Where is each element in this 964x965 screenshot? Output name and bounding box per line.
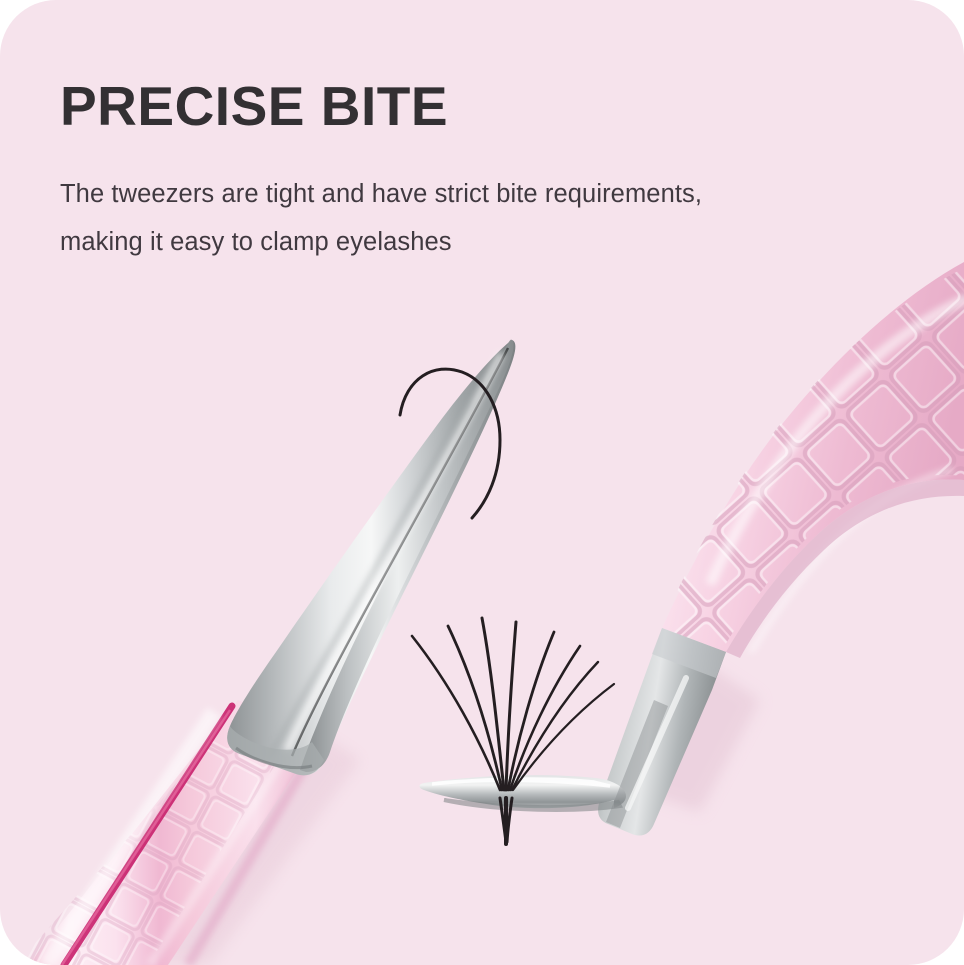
subtitle: The tweezers are tight and have strict b…: [60, 170, 840, 266]
subtitle-line-1: The tweezers are tight and have strict b…: [60, 170, 840, 218]
product-feature-card: PRECISE BITE The tweezers are tight and …: [0, 0, 964, 965]
left-tweezer: [0, 340, 515, 965]
subtitle-line-2: making it easy to clamp eyelashes: [60, 218, 840, 266]
product-illustration: [0, 0, 964, 965]
right-tweezer: [412, 240, 964, 844]
page-title: PRECISE BITE: [60, 78, 448, 135]
